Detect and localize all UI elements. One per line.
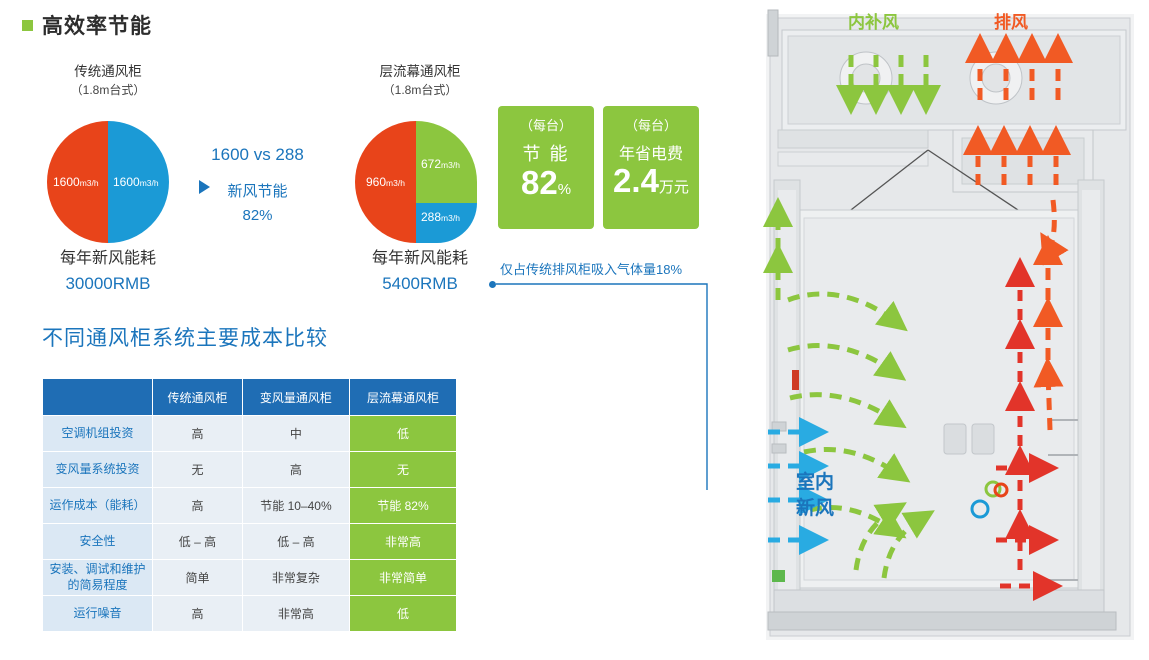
table-row: 安装、调试和维护的简易程度 简单 非常复杂 非常简单 [43, 560, 457, 596]
table-cell: 非常复杂 [242, 560, 349, 596]
left-pie-footer: 每年新风能耗 30000RMB [28, 247, 188, 297]
table-cell: 非常高 [349, 524, 456, 560]
right-pie-title-block: 层流幕通风柜 （1.8m台式） [330, 62, 510, 99]
table-cell: 高 [153, 416, 243, 452]
table-row-label: 变风量系统投资 [43, 452, 153, 488]
label-indoor-fresh-air-line1: 室内 [748, 470, 834, 496]
right-pie-footer: 每年新风能耗 5400RMB [330, 247, 510, 297]
table-cell: 无 [153, 452, 243, 488]
green-box-2-value: 2.4万元 [603, 162, 699, 200]
fume-hood-diagram: 内补风 排风 室内 新风 [748, 0, 1149, 660]
cost-comparison-table: 传统通风柜 变风量通风柜 层流幕通风柜 空调机组投资 高 中 低 变风量系统投资… [42, 378, 457, 632]
green-box-2-caption: （每台） [603, 115, 699, 134]
table-cell: 低 – 高 [153, 524, 243, 560]
table-header-1: 传统通风柜 [153, 379, 243, 416]
right-pie-value-left: 960m3/h [366, 175, 405, 189]
left-pie-title-block: 传统通风柜 （1.8m台式） [28, 62, 188, 99]
green-box-1-value: 82% [498, 164, 594, 202]
left-pie-title: 传统通风柜 [28, 62, 188, 82]
green-box-1-caption: （每台） [498, 115, 594, 134]
right-pie-title: 层流幕通风柜 [330, 62, 510, 82]
right-pie-chart: 960m3/h 672m3/h 288m3/h [355, 121, 477, 243]
note-leader-line [489, 278, 739, 493]
right-pie-footer-label: 每年新风能耗 [330, 247, 510, 271]
note-text: 仅占传统排风柜吸入气体量18% [500, 259, 682, 278]
table-cell: 中 [242, 416, 349, 452]
middle-saving-value: 82% [195, 204, 320, 228]
right-pie-value-bottom-right: 288m3/h [421, 210, 460, 224]
table-row: 变风量系统投资 无 高 无 [43, 452, 457, 488]
table-row: 空调机组投资 高 中 低 [43, 416, 457, 452]
table-cell: 高 [153, 488, 243, 524]
table-header-row: 传统通风柜 变风量通风柜 层流幕通风柜 [43, 379, 457, 416]
table-cell: 低 [349, 596, 456, 632]
table-cell: 低 – 高 [242, 524, 349, 560]
table-row-label: 安全性 [43, 524, 153, 560]
middle-arrow-icon [199, 180, 210, 194]
green-box-cost-saving: （每台） 年省电费 2.4万元 [603, 106, 699, 229]
table-cell: 非常简单 [349, 560, 456, 596]
label-exhaust-air: 排风 [994, 8, 1028, 33]
table-header-3: 层流幕通风柜 [349, 379, 456, 416]
right-pie-value-top-right: 672m3/h [421, 157, 460, 171]
page-header: 高效率节能 [22, 10, 152, 40]
airflow-arrows [748, 0, 1149, 660]
table-header-0 [43, 379, 153, 416]
table-cell: 无 [349, 452, 456, 488]
green-box-1-label: 节 能 [498, 140, 594, 166]
left-pie-subtitle: （1.8m台式） [28, 82, 188, 99]
right-pie-footer-value: 5400RMB [330, 271, 510, 297]
table-row: 安全性 低 – 高 低 – 高 非常高 [43, 524, 457, 560]
green-box-energy-saving: （每台） 节 能 82% [498, 106, 594, 229]
table-row: 运行噪音 高 非常高 低 [43, 596, 457, 632]
table-cell: 非常高 [242, 596, 349, 632]
label-indoor-fresh-air: 室内 新风 [748, 470, 834, 521]
table-row-label: 空调机组投资 [43, 416, 153, 452]
table-row-label: 运行噪音 [43, 596, 153, 632]
right-pie-subtitle: （1.8m台式） [330, 82, 510, 99]
table-cell: 高 [242, 452, 349, 488]
label-indoor-fresh-air-line2: 新风 [748, 496, 834, 522]
table-row-label: 安装、调试和维护的简易程度 [43, 560, 153, 596]
table-cell: 节能 10–40% [242, 488, 349, 524]
middle-comparison-text: 1600 vs 288 新风节能 82% [195, 141, 320, 228]
middle-saving-label: 新风节能 [195, 180, 320, 204]
green-box-2-label: 年省电费 [603, 140, 699, 164]
left-pie-footer-label: 每年新风能耗 [28, 247, 188, 271]
left-pie-value-right: 1600m3/h [113, 175, 159, 189]
table-cell: 节能 82% [349, 488, 456, 524]
table-row-label: 运作成本（能耗） [43, 488, 153, 524]
table-title: 不同通风柜系统主要成本比较 [42, 322, 328, 352]
middle-ratio: 1600 vs 288 [195, 141, 320, 168]
table-cell: 简单 [153, 560, 243, 596]
table-row: 运作成本（能耗） 高 节能 10–40% 节能 82% [43, 488, 457, 524]
left-pie-chart: 1600m3/h 1600m3/h [47, 121, 169, 243]
page-title: 高效率节能 [42, 10, 152, 40]
left-pie-footer-value: 30000RMB [28, 271, 188, 297]
left-pie-value-left: 1600m3/h [53, 175, 99, 189]
header-bullet-icon [22, 20, 33, 31]
table-cell: 低 [349, 416, 456, 452]
label-inner-supply-air: 内补风 [848, 8, 899, 33]
table-header-2: 变风量通风柜 [242, 379, 349, 416]
table-cell: 高 [153, 596, 243, 632]
